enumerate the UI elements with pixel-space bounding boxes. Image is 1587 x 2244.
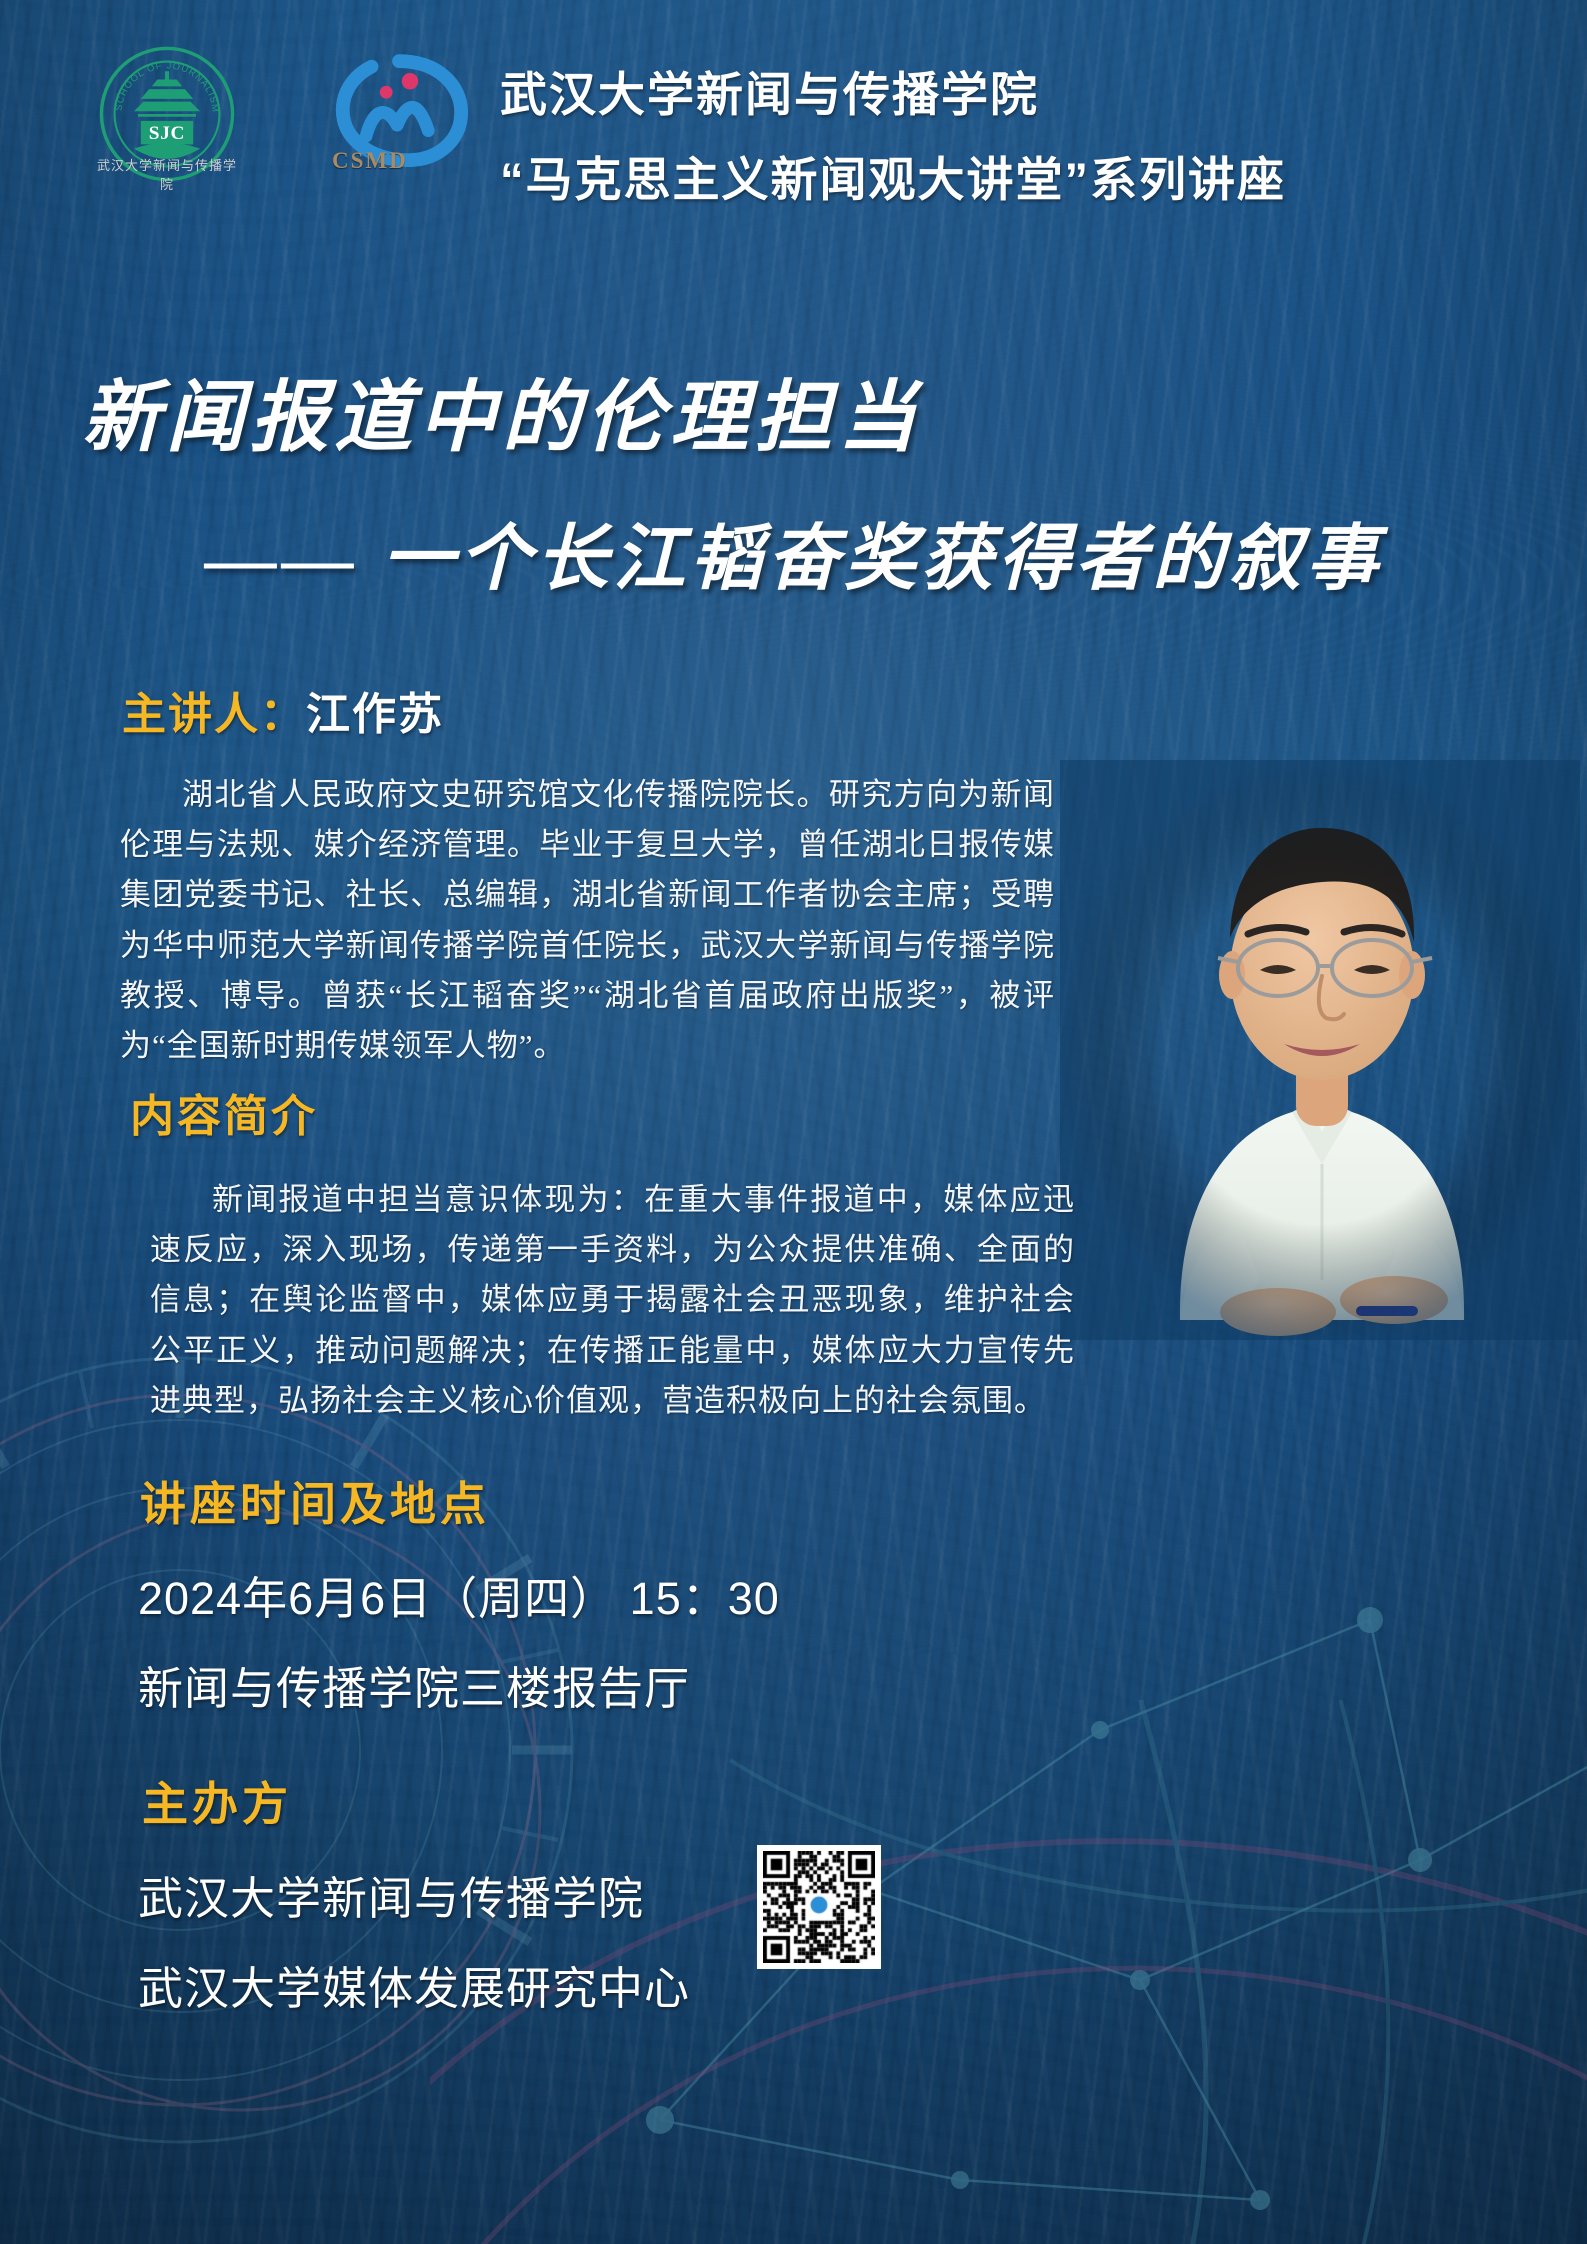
organizer-item: 武汉大学新闻与传播学院: [138, 1862, 644, 1927]
page-title: 新闻报道中的伦理担当: [82, 355, 1587, 467]
qr-code-icon[interactable]: [757, 1845, 881, 1969]
svg-text:SJC: SJC: [149, 123, 185, 144]
header-text-block: 武汉大学新闻与传播学院 “马克思主义新闻观大讲堂”系列讲座: [500, 56, 1520, 210]
intro-heading: 内容简介: [130, 1080, 318, 1144]
organizer-heading: 主办方: [142, 1768, 292, 1834]
lecture-venue: 新闻与传播学院三楼报告厅: [138, 1652, 690, 1717]
lecture-datetime: 2024年6月6日（周四） 15：30: [138, 1562, 780, 1627]
time-place-heading: 讲座时间及地点: [140, 1468, 490, 1534]
title-block: 新闻报道中的伦理担当 —— 一个长江韬奋奖获得者的叙事: [0, 355, 1587, 604]
series-name: “马克思主义新闻观大讲堂”系列讲座: [500, 141, 1520, 210]
school-seal-chinese-label: 武汉大学新闻与传播学院: [96, 155, 238, 193]
poster-header: SCHOOL OF JOURNALISM AND COMMUNICATION S…: [0, 0, 1587, 230]
speaker-name: 江作苏: [306, 690, 444, 739]
lecture-poster: SCHOOL OF JOURNALISM AND COMMUNICATION S…: [0, 0, 1587, 2244]
institution-name: 武汉大学新闻与传播学院: [500, 56, 1520, 125]
intro-body: 新闻报道中担当意识体现为：在重大事件报道中，媒体应迅速反应，深入现场，传递第一手…: [150, 1175, 1075, 1426]
organizer-item: 武汉大学媒体发展研究中心: [138, 1952, 690, 2017]
page-subtitle: —— 一个长江韬奋奖获得者的叙事: [205, 499, 1587, 604]
csmd-logo-text: CSMD: [332, 148, 408, 174]
speaker-label: 主讲人：: [122, 690, 306, 739]
speaker-heading: 主讲人：江作苏: [122, 678, 444, 742]
speaker-bio: 湖北省人民政府文史研究馆文化传播院院长。研究方向为新闻伦理与法规、媒介经济管理。…: [120, 770, 1055, 1071]
qr-code-canvas: [763, 1851, 875, 1963]
